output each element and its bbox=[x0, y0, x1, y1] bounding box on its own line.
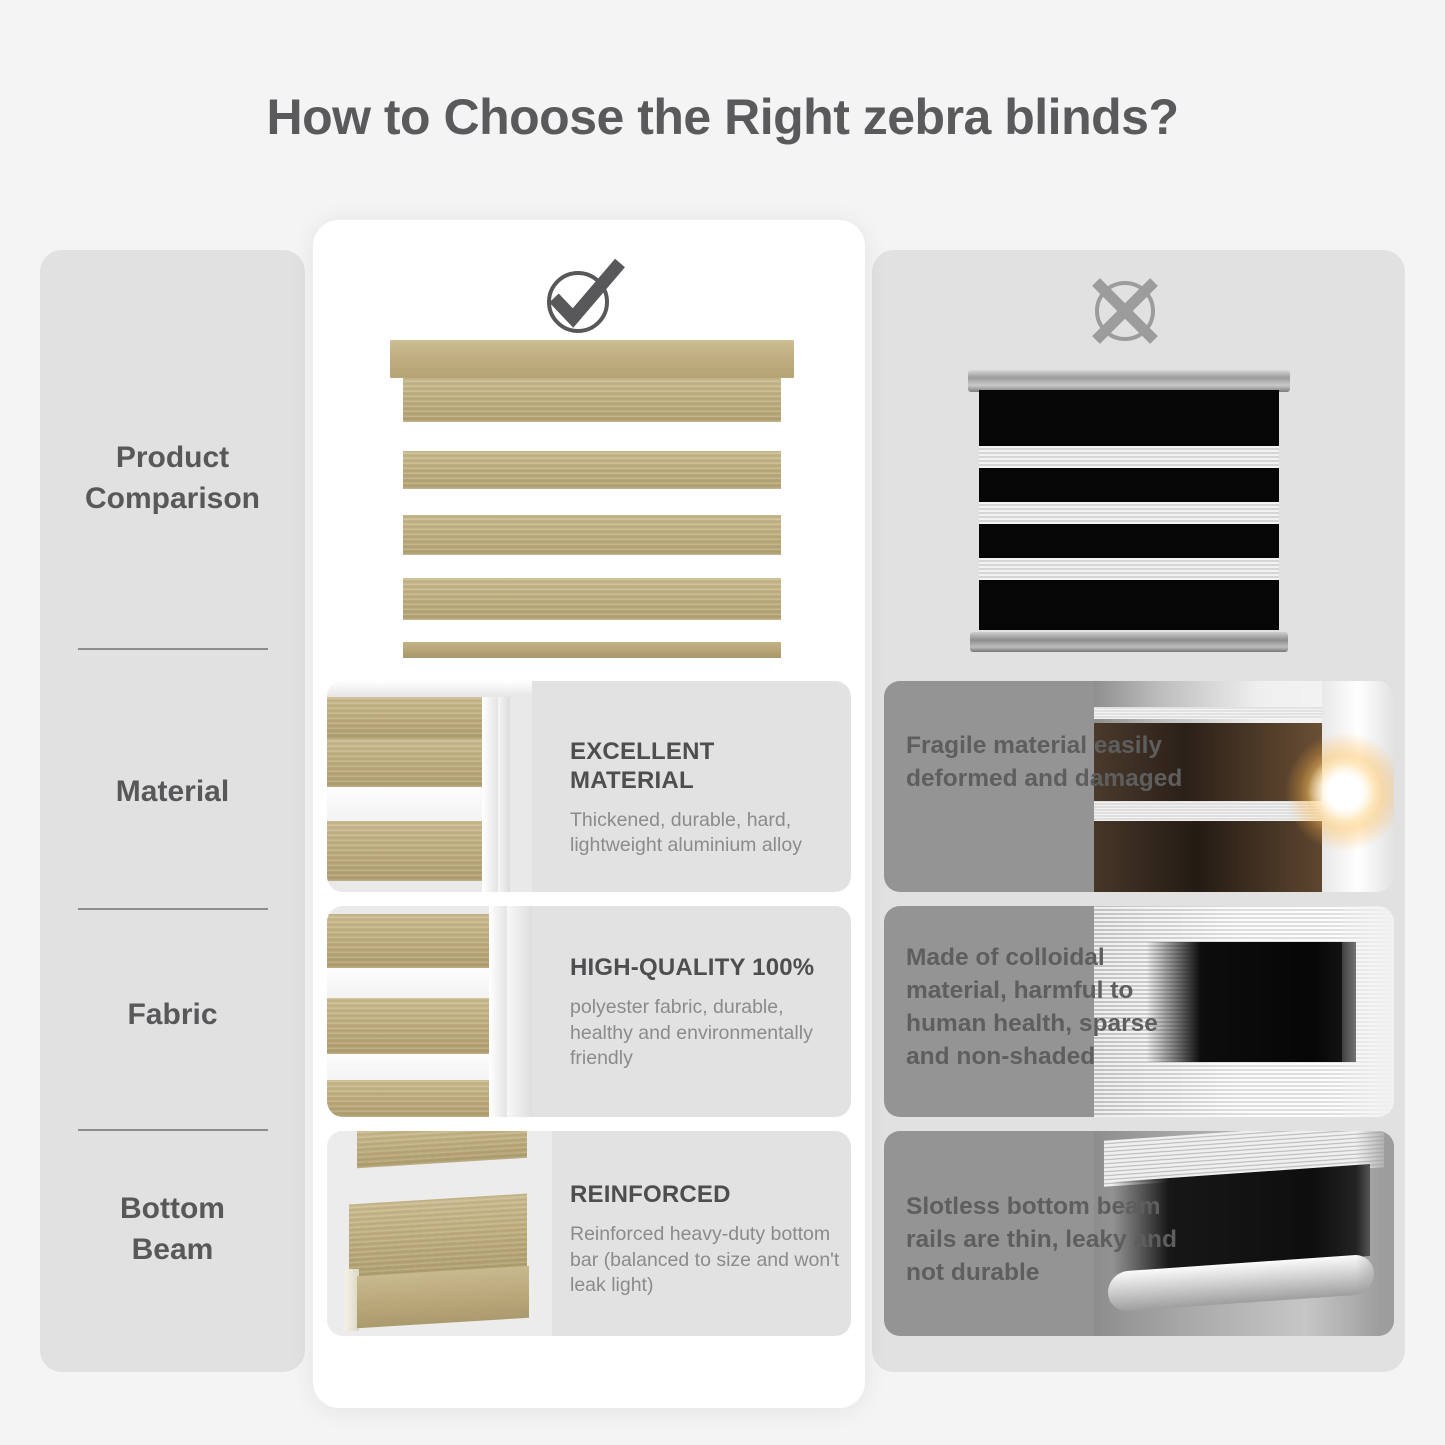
good-card-bottom-beam-text: REINFORCED Reinforced heavy-duty bottom … bbox=[570, 1131, 840, 1336]
sidebar-item-material: Material bbox=[40, 771, 305, 812]
bad-card-material-text: Fragile material easily deformed and dam… bbox=[906, 681, 1186, 892]
blind-slat bbox=[403, 515, 781, 555]
bad-card-bottom-beam-text: Slotless bottom beam rails are thin, lea… bbox=[906, 1131, 1186, 1336]
sidebar-label-line-1: Product bbox=[116, 441, 229, 474]
good-card-bottom-beam: REINFORCED Reinforced heavy-duty bottom … bbox=[327, 1131, 851, 1336]
sidebar-label-line-2: Beam bbox=[132, 1233, 214, 1266]
blind-headrail bbox=[968, 370, 1290, 392]
good-card-material-heading: EXCELLENT MATERIAL bbox=[570, 738, 840, 796]
good-card-fabric-image bbox=[327, 906, 532, 1117]
page-title: How to Choose the Right zebra blinds? bbox=[0, 88, 1445, 146]
good-card-material-text: EXCELLENT MATERIAL Thickened, durable, h… bbox=[570, 681, 840, 892]
sidebar-item-fabric: Fabric bbox=[40, 994, 305, 1035]
cross-circle-icon bbox=[1084, 272, 1166, 350]
sidebar-item-product-comparison: Product Comparison bbox=[40, 437, 305, 519]
blind-bottom-rail bbox=[970, 632, 1288, 652]
blind-sheer-band bbox=[979, 502, 1279, 524]
infographic-root: How to Choose the Right zebra blinds? Pr… bbox=[0, 0, 1445, 1445]
bad-card-fabric: Made of colloidal material, harmful to h… bbox=[884, 906, 1394, 1117]
good-card-fabric-text: HIGH-QUALITY 100% polyester fabric, dura… bbox=[570, 906, 840, 1117]
sidebar-divider-2 bbox=[78, 908, 268, 910]
blind-bottom-bar bbox=[403, 642, 781, 658]
category-sidebar: Product Comparison Material Fabric Botto… bbox=[40, 250, 305, 1372]
good-card-material: EXCELLENT MATERIAL Thickened, durable, h… bbox=[327, 681, 851, 892]
sidebar-label-line-1: Bottom bbox=[120, 1192, 225, 1225]
bad-card-material-heading: Fragile material easily deformed and dam… bbox=[906, 729, 1186, 795]
sidebar-item-bottom-beam: Bottom Beam bbox=[40, 1188, 305, 1270]
bad-card-bottom-beam: Slotless bottom beam rails are thin, lea… bbox=[884, 1131, 1394, 1336]
sidebar-divider-1 bbox=[78, 648, 268, 650]
check-circle-icon bbox=[540, 258, 626, 338]
good-card-material-image bbox=[327, 681, 532, 892]
good-card-bottom-beam-image bbox=[327, 1131, 552, 1336]
bad-card-fabric-text: Made of colloidal material, harmful to h… bbox=[906, 906, 1186, 1117]
good-card-fabric-body: polyester fabric, durable, healthy and e… bbox=[570, 995, 840, 1072]
bad-card-material: Fragile material easily deformed and dam… bbox=[884, 681, 1394, 892]
blind-fabric bbox=[979, 390, 1279, 630]
sidebar-label-line-2: Comparison bbox=[85, 482, 260, 515]
bad-card-fabric-heading: Made of colloidal material, harmful to h… bbox=[906, 941, 1186, 1073]
blind-sheer-band bbox=[979, 446, 1279, 468]
blind-valance bbox=[390, 340, 794, 378]
blind-slat bbox=[403, 578, 781, 620]
good-product-image bbox=[390, 340, 794, 670]
good-card-fabric: HIGH-QUALITY 100% polyester fabric, dura… bbox=[327, 906, 851, 1117]
blind-slat bbox=[403, 378, 781, 422]
bad-card-bottom-beam-heading: Slotless bottom beam rails are thin, lea… bbox=[906, 1190, 1186, 1289]
blind-sheer-band bbox=[979, 558, 1279, 580]
good-card-bottom-beam-heading: REINFORCED bbox=[570, 1181, 840, 1210]
good-card-bottom-beam-body: Reinforced heavy-duty bottom bar (balanc… bbox=[570, 1222, 840, 1299]
good-card-material-body: Thickened, durable, hard, lightweight al… bbox=[570, 808, 840, 859]
blind-slat bbox=[403, 451, 781, 489]
sidebar-divider-3 bbox=[78, 1129, 268, 1131]
good-card-fabric-heading: HIGH-QUALITY 100% bbox=[570, 954, 840, 983]
bad-product-image bbox=[968, 370, 1290, 652]
